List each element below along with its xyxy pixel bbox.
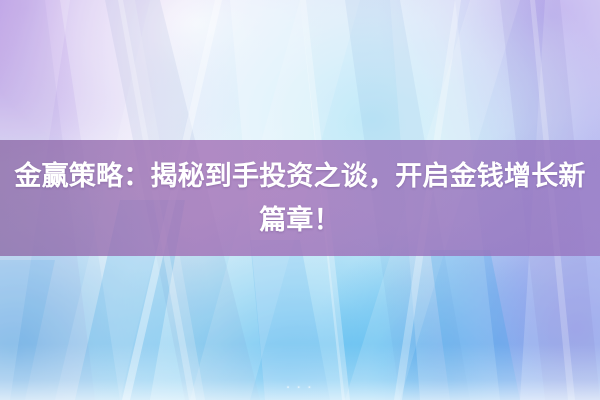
- banner-title: 金赢策略：揭秘到手投资之谈，开启金钱增长新篇章！: [4, 154, 596, 242]
- banner-image: 金赢策略：揭秘到手投资之谈，开启金钱增长新篇章！ · · ·: [0, 0, 600, 400]
- title-band: 金赢策略：揭秘到手投资之谈，开启金钱增长新篇章！: [0, 140, 600, 256]
